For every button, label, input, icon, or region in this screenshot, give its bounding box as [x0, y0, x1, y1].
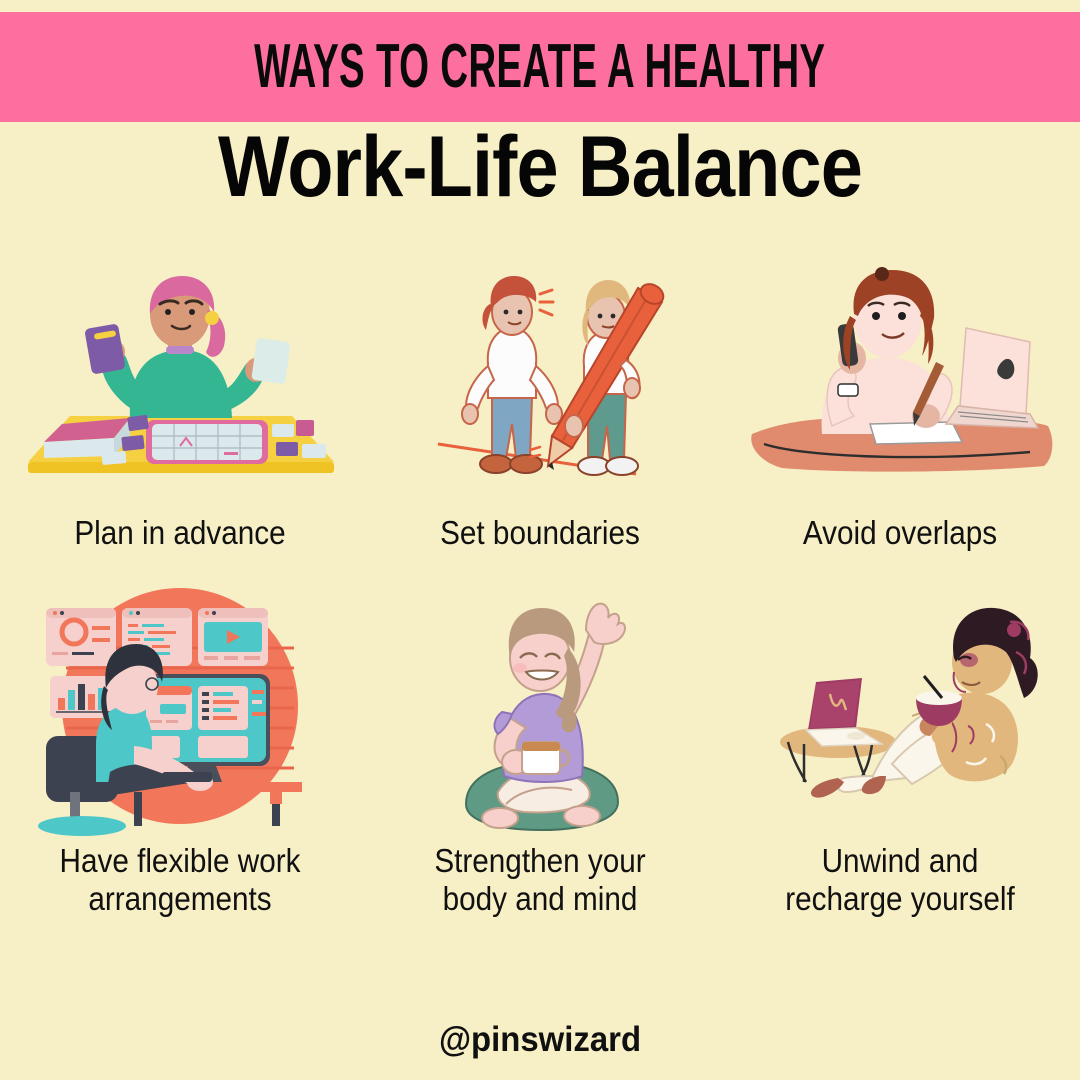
tip-card-flexible-work: Have flexible work arrangements — [0, 586, 360, 926]
woman-planner-desk-icon — [10, 266, 350, 504]
infographic-page: WAYS TO CREATE A HEALTHY Work-Life Balan… — [0, 0, 1080, 1080]
tip-card-plan-in-advance: Plan in advance — [0, 266, 360, 586]
tip-caption: Have flexible work arrangements — [32, 842, 329, 919]
two-women-giant-pencil-icon — [370, 266, 710, 504]
tip-caption: Plan in advance — [32, 514, 329, 552]
tips-grid: Plan in advance — [0, 266, 1080, 996]
tip-card-unwind-recharge: Unwind and recharge yourself — [720, 586, 1080, 926]
woman-phone-laptop-desk-icon — [730, 266, 1070, 504]
tip-card-strengthen-body-mind: Strengthen your body and mind — [360, 586, 720, 926]
tip-card-avoid-overlaps: Avoid overlaps — [720, 266, 1080, 586]
woman-stretching-cushion-mug-icon — [370, 586, 710, 836]
page-title: Work-Life Balance — [65, 124, 1015, 212]
tip-caption: Set boundaries — [392, 514, 689, 552]
author-handle: @pinswizard — [32, 1020, 1047, 1060]
tip-caption: Unwind and recharge yourself — [752, 842, 1049, 919]
header-kicker-text: WAYS TO CREATE A HEALTHY — [254, 36, 825, 98]
tip-card-set-boundaries: Set boundaries — [360, 266, 720, 586]
woman-floor-bowl-laptop-icon — [730, 586, 1070, 836]
woman-computer-workstation-icon — [10, 586, 350, 836]
tip-caption: Avoid overlaps — [752, 514, 1049, 552]
tip-caption: Strengthen your body and mind — [392, 842, 689, 919]
header-kicker-band: WAYS TO CREATE A HEALTHY — [0, 12, 1080, 122]
